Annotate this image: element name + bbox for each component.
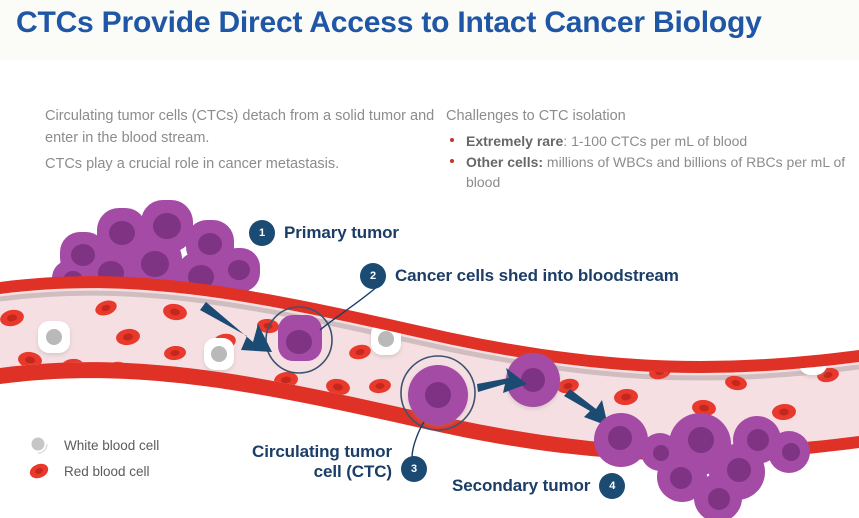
callout-secondary-tumor: Secondary tumor 4 [452,473,625,499]
challenges-heading: Challenges to CTC isolation [446,105,846,127]
legend-label-wbc: White blood cell [64,438,159,453]
callout-badge-1: 1 [249,220,275,246]
bullet-icon [450,138,454,142]
callout-badge-3: 3 [401,456,427,482]
callout-badge-2: 2 [360,263,386,289]
challenges-block: Challenges to CTC isolation Extremely ra… [446,105,846,193]
legend-row-wbc: White blood cell [28,432,159,458]
intro-line-1: Circulating tumor cells (CTCs) detach fr… [45,105,435,149]
challenge-term: Extremely rare [466,133,563,149]
legend-row-rbc: Red blood cell [28,458,159,484]
legend: White blood cell Red blood cell [28,432,159,484]
callout-badge-4: 4 [599,473,625,499]
challenge-item-rare: Extremely rare: 1-100 CTCs per mL of blo… [446,131,846,151]
callout-label-circulating-tumor-cell: Circulating tumor cell (CTC) [232,442,392,482]
secondary-tumor-cluster [594,413,810,518]
challenge-term: Other cells: [466,154,543,170]
challenge-detail: : 1-100 CTCs per mL of blood [563,133,747,149]
callout-primary-tumor: 1 Primary tumor [249,220,399,246]
intro-line-2: CTCs play a crucial role in cancer metas… [45,153,435,175]
white-blood-cell-icon [28,434,50,456]
shed-cancer-cell [278,315,322,361]
legend-label-rbc: Red blood cell [64,464,150,479]
challenge-item-other-cells: Other cells: millions of WBCs and billio… [446,152,846,192]
page-title: CTCs Provide Direct Access to Intact Can… [16,6,846,40]
red-blood-cell-icon [28,460,50,482]
callout-label-secondary-tumor: Secondary tumor [452,476,590,496]
bullet-icon [450,159,454,163]
slide: CTCs Provide Direct Access to Intact Can… [0,0,859,518]
challenges-list: Extremely rare: 1-100 CTCs per mL of blo… [446,131,846,192]
callout-cancer-cells-shed: 2 Cancer cells shed into bloodstream [360,263,679,289]
callout-label-cancer-cells-shed: Cancer cells shed into bloodstream [395,266,679,286]
callout-label-primary-tumor: Primary tumor [284,223,399,243]
intro-text: Circulating tumor cells (CTCs) detach fr… [45,105,435,175]
callout-circulating-tumor-cell: Circulating tumor cell (CTC) 3 [232,442,427,482]
